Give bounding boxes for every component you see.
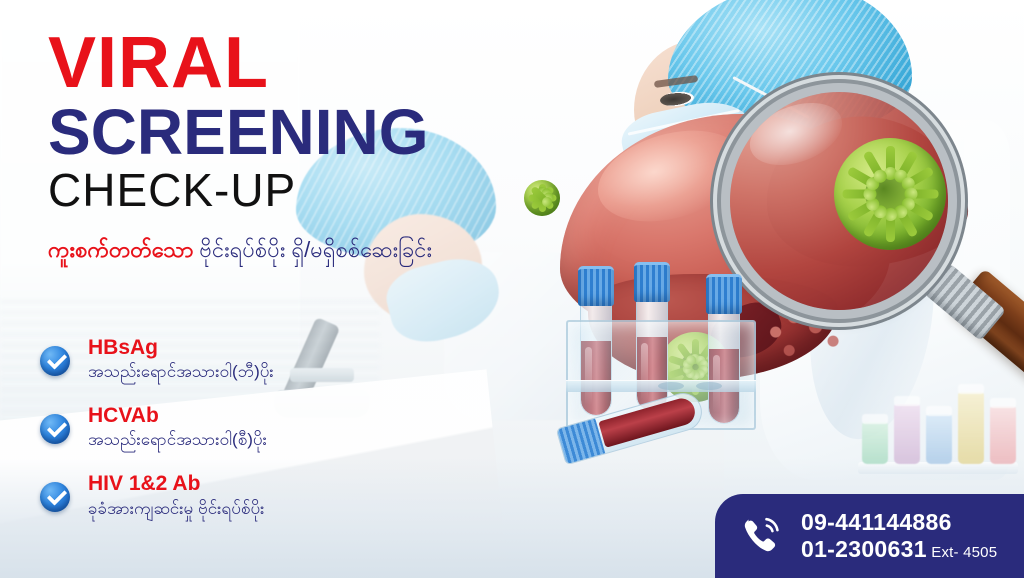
phone-landline[interactable]: 01-2300631	[801, 536, 927, 562]
phone-mobile[interactable]: 09-441144886	[801, 509, 997, 536]
virus-particle-icon	[834, 138, 946, 250]
headline-line-screening: SCREENING	[48, 100, 429, 164]
check-circle-icon	[40, 346, 70, 376]
phone-extension: Ext- 4505	[931, 544, 997, 561]
virus-particle-icon	[524, 180, 560, 216]
check-circle-icon	[40, 482, 70, 512]
test-title: HIV 1&2 Ab	[88, 472, 440, 496]
test-description: ခုခံအားကျဆင်းမှု ဗိုင်းရပ်စ်ပိုး	[88, 498, 440, 520]
headline-line-viral: VIRAL	[48, 30, 429, 98]
test-tube-cap	[706, 274, 742, 314]
list-item: HBsAg အသည်းရောင်အသားဝါ(ဘီ)ပိုး	[40, 336, 440, 383]
list-item: HCVAb အသည်းရောင်အသားဝါ(စီ)ပိုး	[40, 404, 440, 451]
check-circle-icon	[40, 414, 70, 444]
list-item: HIV 1&2 Ab ခုခံအားကျဆင်းမှု ဗိုင်းရပ်စ်ပ…	[40, 472, 440, 519]
test-description: အသည်းရောင်အသားဝါ(စီ)ပိုး	[88, 429, 440, 451]
subtitle-navy-part: ဗိုင်းရပ်စ်ပိုး ရှိ/မရှိစစ်ဆေးခြင်း	[199, 237, 432, 262]
test-title: HBsAg	[88, 336, 440, 360]
subtitle-red-part: ကူးစက်တတ်သော	[48, 237, 193, 262]
contact-badge[interactable]: 09-441144886 01-2300631 Ext- 4505	[715, 494, 1024, 578]
subtitle-burmese: ကူးစက်တတ်သော ဗိုင်းရပ်စ်ပိုး ရှိ/မရှိစစ်…	[48, 236, 432, 264]
rack-hole	[658, 382, 684, 390]
test-title: HCVAb	[88, 404, 440, 428]
magnifier-glass-reflection	[741, 92, 850, 177]
phone-ringing-icon	[739, 514, 783, 558]
test-tube-cap	[578, 266, 614, 306]
test-tube-cap	[634, 262, 670, 302]
test-list: HBsAg အသည်းရောင်အသားဝါ(ဘီ)ပိုး HCVAb အသည…	[40, 336, 440, 541]
contact-numbers: 09-441144886 01-2300631 Ext- 4505	[801, 509, 997, 563]
headline-line-checkup: CHECK-UP	[48, 166, 429, 214]
viral-screening-banner: VIRAL SCREENING CHECK-UP ကူးစက်တတ်သော ဗိ…	[0, 0, 1024, 578]
rack-hole	[696, 382, 722, 390]
blood-test-tube-rack	[552, 276, 782, 476]
test-description: အသည်းရောင်အသားဝါ(ဘီ)ပိုး	[88, 361, 440, 383]
headline-block: VIRAL SCREENING CHECK-UP	[48, 30, 429, 214]
